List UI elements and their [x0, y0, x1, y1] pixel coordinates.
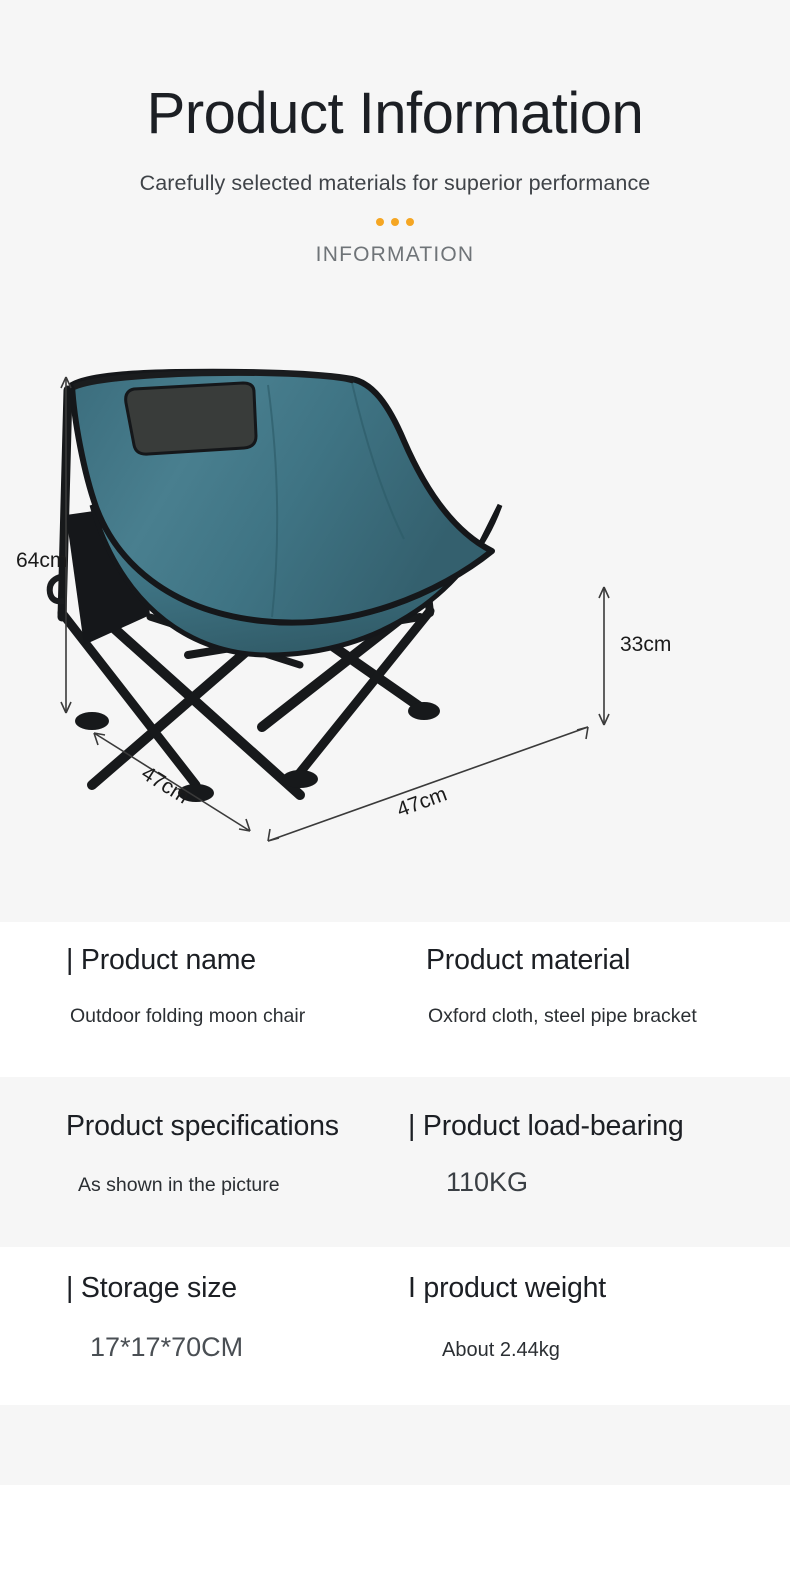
page-title: Product Information [0, 0, 790, 145]
spec-row: | Storage size 17*17*70CM I product weig… [0, 1247, 790, 1407]
page-subtitle: Carefully selected materials for superio… [0, 171, 790, 196]
headrest-panel [126, 383, 256, 454]
spec-row: | Product name Outdoor folding moon chai… [0, 922, 790, 1077]
dimension-label-seat-height: 33cm [620, 633, 671, 656]
spec-key: Product specifications [66, 1077, 362, 1143]
dimension-label-height: 64cm [16, 549, 67, 572]
spec-cell-product-name: | Product name Outdoor folding moon chai… [0, 922, 362, 1077]
spec-key: | Product name [66, 922, 362, 977]
spec-cell-product-material: Product material Oxford cloth, steel pip… [362, 922, 790, 1077]
spec-value: 17*17*70CM [66, 1305, 362, 1363]
footer-band-white [0, 1485, 790, 1572]
dot-icon [391, 218, 399, 226]
footer-band-gray [0, 1405, 790, 1485]
product-diagram: 64cm 33cm 47cm 47cm [0, 355, 790, 885]
spec-key: I product weight [362, 1247, 790, 1305]
spec-key: Product material [362, 922, 790, 977]
spec-row: Product specifications As shown in the p… [0, 1077, 790, 1247]
specifications-table: | Product name Outdoor folding moon chai… [0, 922, 790, 1407]
spec-value: Outdoor folding moon chair [66, 977, 362, 1028]
spec-value: Oxford cloth, steel pipe bracket [362, 977, 790, 1028]
hero-section: Product Information Carefully selected m… [0, 0, 790, 922]
dot-icon [376, 218, 384, 226]
dot-icon [406, 218, 414, 226]
spec-cell-product-weight: I product weight About 2.44kg [362, 1247, 790, 1407]
spec-key: | Product load-bearing [362, 1077, 790, 1143]
spec-key: | Storage size [66, 1247, 362, 1305]
section-kicker: INFORMATION [0, 243, 790, 267]
spec-value: About 2.44kg [362, 1305, 790, 1362]
spec-cell-product-load-bearing: | Product load-bearing 110KG [362, 1077, 790, 1247]
dimension-label-width: 47cm [394, 783, 450, 822]
spec-value: 110KG [362, 1143, 790, 1198]
spec-value: As shown in the picture [66, 1143, 362, 1197]
spec-cell-product-specifications: Product specifications As shown in the p… [0, 1077, 362, 1247]
spec-cell-storage-size: | Storage size 17*17*70CM [0, 1247, 362, 1407]
dot-separator [0, 218, 790, 226]
